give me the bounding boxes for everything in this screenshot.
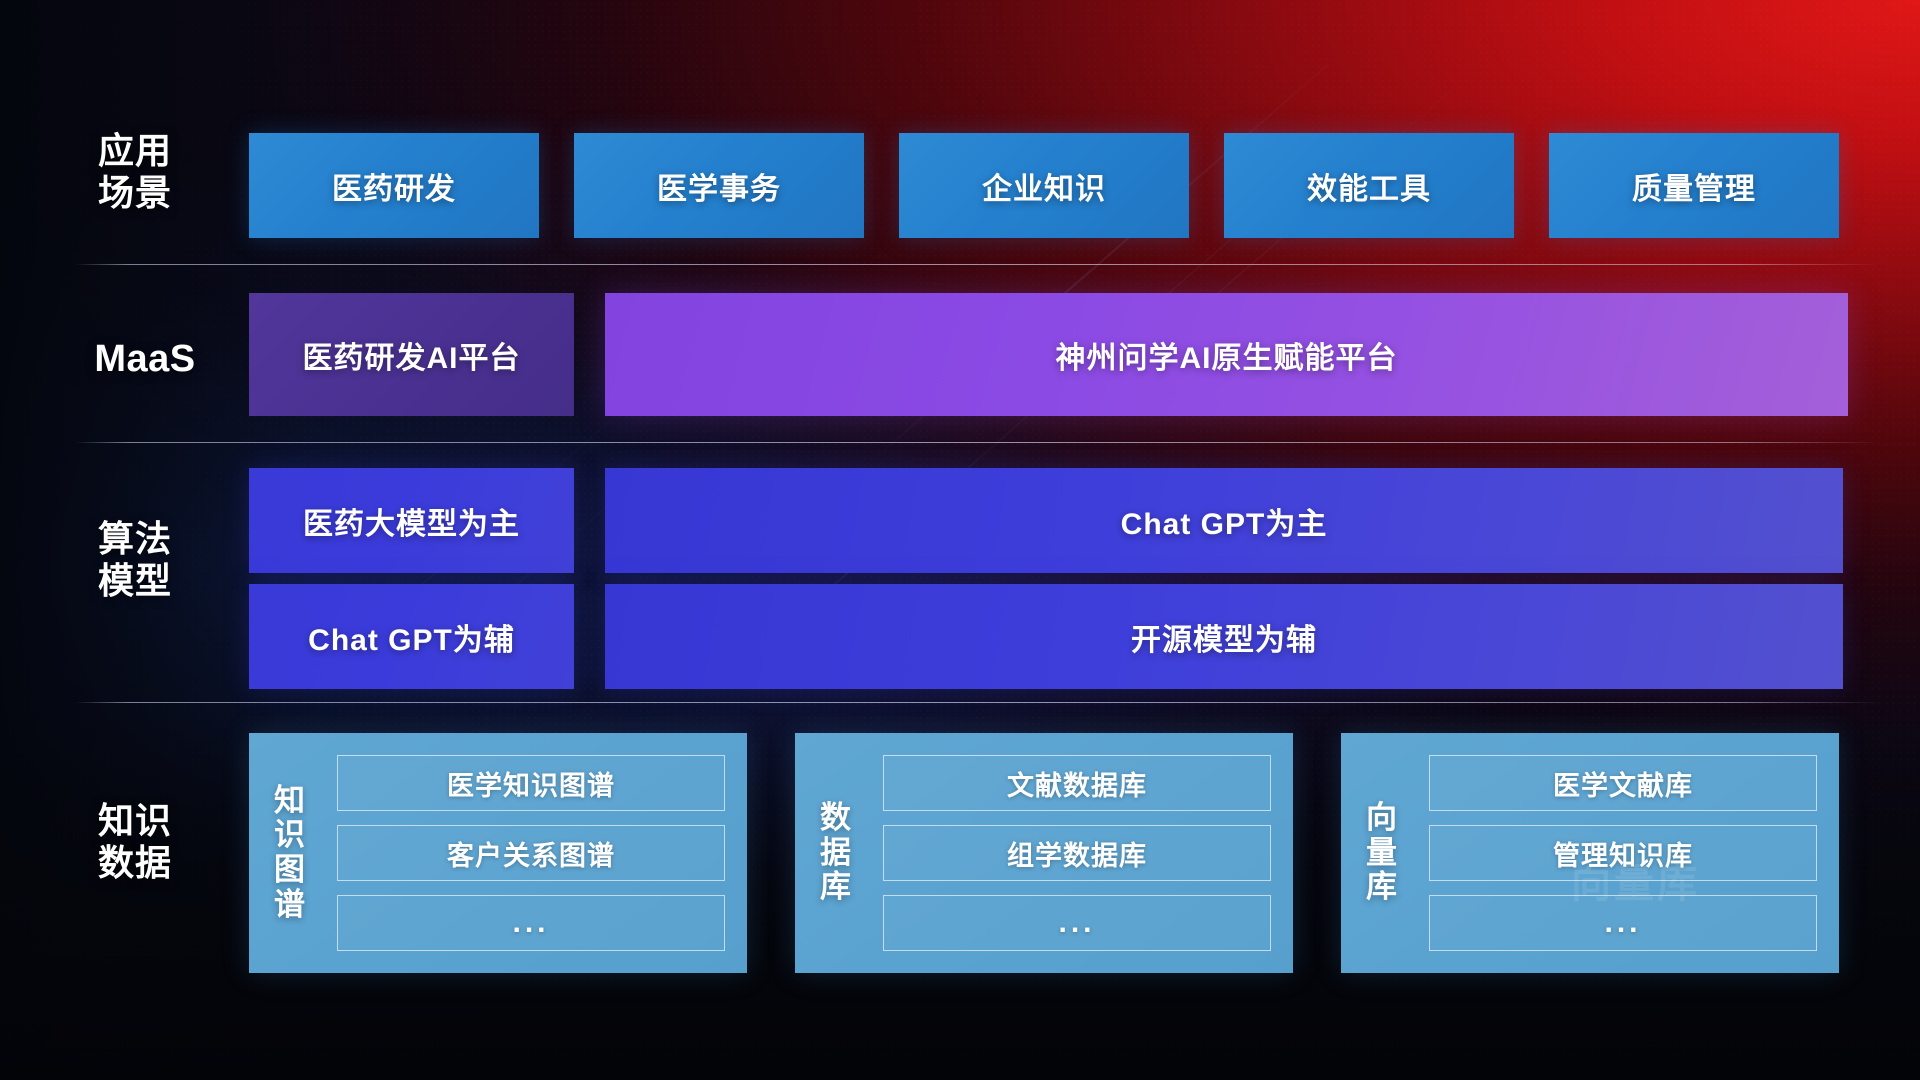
knowledge-item[interactable]: 文献数据库 [883,755,1271,811]
app-box-2[interactable]: 医学事务 [574,133,864,238]
knowledge-panel-vector[interactable]: 向 量 库 医学文献库 管理知识库 ... 向量库 [1341,733,1839,973]
algo-box-right-2[interactable]: 开源模型为辅 [605,584,1843,689]
algo-box-right-2-label: 开源模型为辅 [1131,615,1317,659]
app-box-5[interactable]: 质量管理 [1549,133,1839,238]
divider-algorithm-knowledge [75,702,1880,703]
algo-box-left-2-label: Chat GPT为辅 [308,615,515,659]
app-box-1[interactable]: 医药研发 [249,133,539,238]
app-box-3-label: 企业知识 [982,164,1106,208]
knowledge-item-more[interactable]: ... [883,895,1271,951]
divider-maas-algorithm [75,442,1880,443]
divider-application-maas [75,264,1880,265]
knowledge-item[interactable]: 医学文献库 [1429,755,1817,811]
knowledge-item[interactable]: 组学数据库 [883,825,1271,881]
knowledge-panel-vector-title: 向 量 库 [1341,733,1423,973]
knowledge-panel-graph[interactable]: 知 识 图 谱 医学知识图谱 客户关系图谱 ... [249,733,747,973]
maas-box-platform[interactable]: 医药研发AI平台 [249,293,574,416]
maas-box-enablement[interactable]: 神州问学AI原生赋能平台 [605,293,1848,416]
app-box-2-label: 医学事务 [657,164,781,208]
knowledge-item[interactable]: 管理知识库 [1429,825,1817,881]
maas-box-platform-label: 医药研发AI平台 [303,333,521,377]
algo-box-right-1-label: Chat GPT为主 [1121,499,1328,543]
knowledge-item-more[interactable]: ... [337,895,725,951]
algo-box-right-1[interactable]: Chat GPT为主 [605,468,1843,573]
knowledge-panel-database[interactable]: 数 据 库 文献数据库 组学数据库 ... [795,733,1293,973]
maas-box-enablement-label: 神州问学AI原生赋能平台 [1056,333,1398,377]
app-box-3[interactable]: 企业知识 [899,133,1189,238]
algo-box-left-1[interactable]: 医药大模型为主 [249,468,574,573]
diagram-canvas: 应用 场景 医药研发 医学事务 企业知识 效能工具 质量管理 MaaS 医药研发… [0,0,1920,1080]
knowledge-item[interactable]: 医学知识图谱 [337,755,725,811]
app-box-4[interactable]: 效能工具 [1224,133,1514,238]
row-label-maas: MaaS [75,337,215,381]
app-box-5-label: 质量管理 [1632,164,1756,208]
app-box-4-label: 效能工具 [1307,164,1431,208]
row-label-algorithm: 算法 模型 [75,518,195,602]
algo-box-left-1-label: 医药大模型为主 [303,499,520,543]
app-box-1-label: 医药研发 [332,164,456,208]
algo-box-left-2[interactable]: Chat GPT为辅 [249,584,574,689]
row-label-application: 应用 场景 [75,130,195,214]
knowledge-panel-database-title: 数 据 库 [795,733,877,973]
knowledge-panel-graph-title: 知 识 图 谱 [249,733,331,973]
knowledge-item-more[interactable]: ... [1429,895,1817,951]
row-label-knowledge: 知识 数据 [75,800,195,884]
knowledge-item[interactable]: 客户关系图谱 [337,825,725,881]
